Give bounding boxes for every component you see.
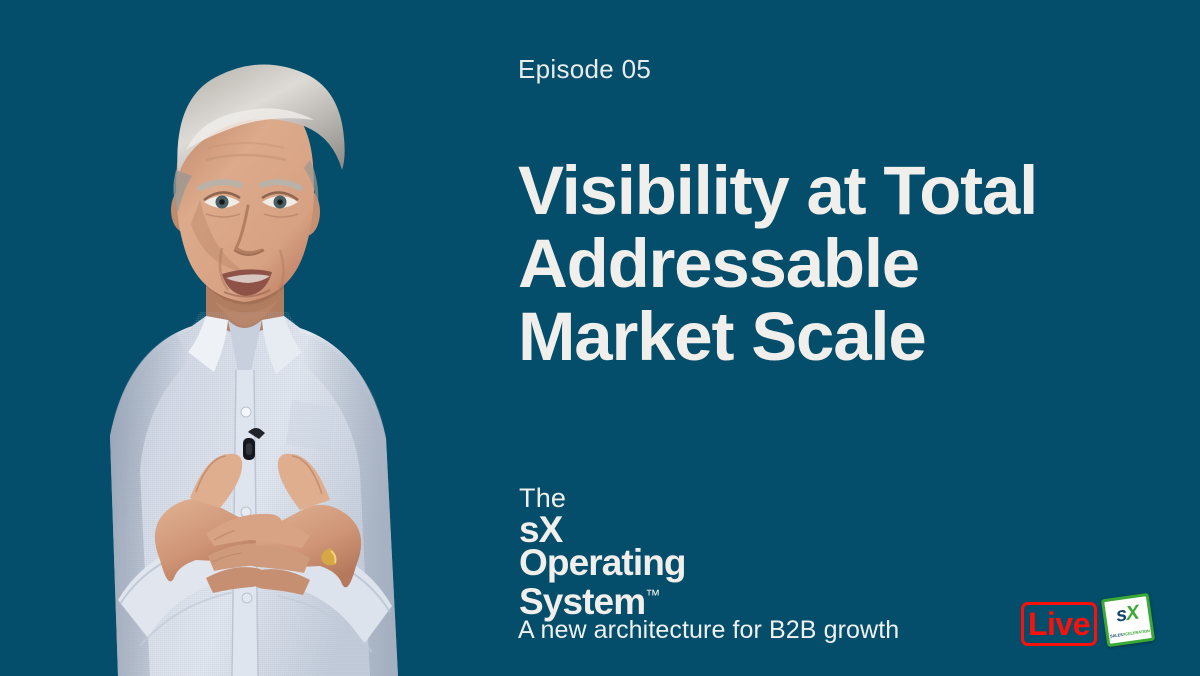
page-title: Visibility at Total Addressable Market S… (518, 154, 1178, 373)
episode-label: Episode 05 (518, 54, 651, 85)
brand-tagline: A new architecture for B2B growth (518, 616, 899, 644)
brand-line-operating: Operating (519, 546, 686, 579)
sx-logo-letter-x: X (1125, 602, 1140, 626)
live-badge-label: Live (1028, 608, 1090, 640)
title-line-3: Market Scale (518, 300, 1178, 373)
sx-wordmark-right: XCELERATION (1122, 628, 1150, 637)
sx-logo-tile: sX SALESXCELERATION (1104, 596, 1151, 643)
sx-wordmark-left: SALES (1110, 632, 1123, 639)
brand-lockup: The sX Operating System™ (519, 484, 686, 618)
sx-logo-border: sX SALESXCELERATION (1101, 593, 1155, 647)
brand-line-system: System™ (519, 579, 686, 618)
trademark-symbol: ™ (645, 587, 660, 604)
sx-logo-icon: sX SALESXCELERATION (1101, 593, 1155, 647)
title-line-1: Visibility at Total (518, 154, 1178, 227)
title-line-2: Addressable (518, 227, 1178, 300)
sx-logo-wordmark: SALESXCELERATION (1109, 628, 1151, 639)
presenter-photo (0, 0, 480, 676)
sx-logo-mark: sX (1105, 601, 1149, 627)
status-badge-live: Live (1021, 602, 1097, 646)
episode-title-slide: Episode 05 Visibility at Total Addressab… (0, 0, 1200, 676)
